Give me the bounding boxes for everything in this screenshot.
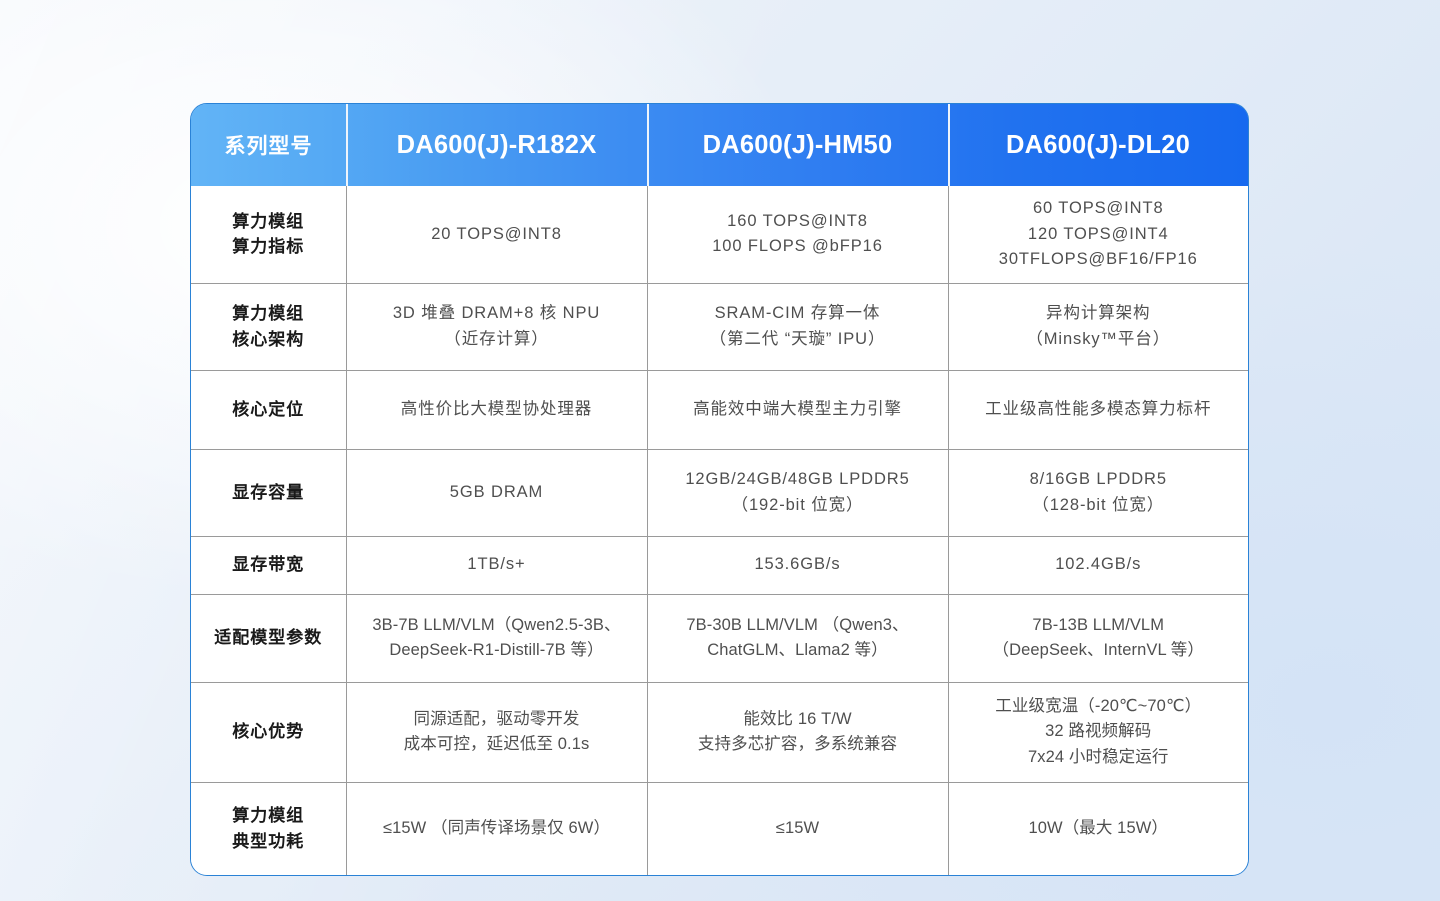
spec-value-line: 120 TOPS@INT4 xyxy=(961,222,1237,248)
column-header-dl20-label: DA600(J)-DL20 xyxy=(954,131,1242,160)
row-label-line: 适配模型参数 xyxy=(203,625,334,651)
spec-value-line: （192-bit 位宽） xyxy=(660,493,936,519)
column-header-hm50: DA600(J)-HM50 xyxy=(647,104,948,186)
spec-value-cell: 能效比 16 T/W支持多芯扩容，多系统兼容 xyxy=(647,682,948,782)
row-label-line: 算力模组 xyxy=(203,301,334,327)
spec-value-line: 能效比 16 T/W xyxy=(660,707,936,733)
row-label-line: 核心架构 xyxy=(203,327,334,353)
spec-value-cell: 1TB/s+ xyxy=(346,536,647,594)
spec-value-line: 102.4GB/s xyxy=(961,552,1237,578)
spec-value-line: 8/16GB LPDDR5 xyxy=(961,467,1237,493)
spec-value-cell: 高能效中端大模型主力引擎 xyxy=(647,370,948,449)
spec-value-cell: 同源适配，驱动零开发成本可控，延迟低至 0.1s xyxy=(346,682,647,782)
spec-value-cell: 3D 堆叠 DRAM+8 核 NPU（近存计算） xyxy=(346,283,647,370)
spec-value-line: （128-bit 位宽） xyxy=(961,493,1237,519)
table-row: 算力模组算力指标20 TOPS@INT8160 TOPS@INT8100 FLO… xyxy=(191,186,1248,283)
spec-value-line: 20 TOPS@INT8 xyxy=(359,222,635,248)
spec-value-cell: 异构计算架构（Minsky™平台） xyxy=(948,283,1248,370)
column-header-hm50-label: DA600(J)-HM50 xyxy=(653,131,942,160)
column-header-series: 系列型号 xyxy=(191,104,346,186)
spec-value-line: 7B-30B LLM/VLM （Qwen3、 xyxy=(660,613,936,639)
spec-value-cell: 10W（最大 15W） xyxy=(948,782,1248,875)
column-header-series-label: 系列型号 xyxy=(197,130,340,160)
table-row: 核心优势同源适配，驱动零开发成本可控，延迟低至 0.1s能效比 16 T/W支持… xyxy=(191,682,1248,782)
spec-value-line: ≤15W xyxy=(660,816,936,842)
row-label-line: 算力指标 xyxy=(203,234,334,260)
spec-value-line: （第二代 “天璇” IPU） xyxy=(660,327,936,353)
spec-value-line: 7x24 小时稳定运行 xyxy=(961,745,1237,771)
table-header: 系列型号 DA600(J)-R182X DA600(J)-HM50 DA600(… xyxy=(191,104,1248,186)
column-header-r182x: DA600(J)-R182X xyxy=(346,104,647,186)
table-row: 显存带宽1TB/s+153.6GB/s102.4GB/s xyxy=(191,536,1248,594)
table-body: 算力模组算力指标20 TOPS@INT8160 TOPS@INT8100 FLO… xyxy=(191,186,1248,875)
spec-value-line: 7B-13B LLM/VLM xyxy=(961,613,1237,639)
spec-value-line: 成本可控，延迟低至 0.1s xyxy=(359,732,635,758)
table-row: 算力模组核心架构3D 堆叠 DRAM+8 核 NPU（近存计算）SRAM-CIM… xyxy=(191,283,1248,370)
spec-value-line: 同源适配，驱动零开发 xyxy=(359,707,635,733)
header-row: 系列型号 DA600(J)-R182X DA600(J)-HM50 DA600(… xyxy=(191,104,1248,186)
spec-value-cell: 8/16GB LPDDR5（128-bit 位宽） xyxy=(948,449,1248,536)
row-label-cell: 算力模组算力指标 xyxy=(191,186,346,283)
spec-value-line: （近存计算） xyxy=(359,327,635,353)
spec-value-cell: 60 TOPS@INT8120 TOPS@INT430TFLOPS@BF16/F… xyxy=(948,186,1248,283)
spec-value-line: （Minsky™平台） xyxy=(961,327,1237,353)
spec-value-cell: 5GB DRAM xyxy=(346,449,647,536)
spec-value-line: 异构计算架构 xyxy=(961,301,1237,327)
spec-value-cell: 7B-13B LLM/VLM（DeepSeek、InternVL 等） xyxy=(948,594,1248,682)
spec-value-line: 160 TOPS@INT8 xyxy=(660,209,936,235)
row-label-line: 显存容量 xyxy=(203,480,334,506)
spec-value-cell: 20 TOPS@INT8 xyxy=(346,186,647,283)
spec-value-cell: 160 TOPS@INT8100 FLOPS @bFP16 xyxy=(647,186,948,283)
table-row: 适配模型参数3B-7B LLM/VLM（Qwen2.5-3B、DeepSeek-… xyxy=(191,594,1248,682)
row-label-cell: 算力模组核心架构 xyxy=(191,283,346,370)
row-label-cell: 显存带宽 xyxy=(191,536,346,594)
spec-value-cell: 7B-30B LLM/VLM （Qwen3、ChatGLM、Llama2 等） xyxy=(647,594,948,682)
spec-value-line: 32 路视频解码 xyxy=(961,719,1237,745)
spec-value-line: 30TFLOPS@BF16/FP16 xyxy=(961,247,1237,273)
row-label-line: 核心定位 xyxy=(203,397,334,423)
spec-value-cell: 工业级宽温（-20℃~70℃）32 路视频解码7x24 小时稳定运行 xyxy=(948,682,1248,782)
table-row: 算力模组典型功耗≤15W （同声传译场景仅 6W）≤15W10W（最大 15W） xyxy=(191,782,1248,875)
page-root: 系列型号 DA600(J)-R182X DA600(J)-HM50 DA600(… xyxy=(0,0,1440,901)
spec-value-line: ChatGLM、Llama2 等） xyxy=(660,638,936,664)
spec-value-line: 3B-7B LLM/VLM（Qwen2.5-3B、 xyxy=(359,613,635,639)
spec-value-line: 5GB DRAM xyxy=(359,480,635,506)
spec-value-cell: 工业级高性能多模态算力标杆 xyxy=(948,370,1248,449)
spec-value-cell: SRAM-CIM 存算一体（第二代 “天璇” IPU） xyxy=(647,283,948,370)
row-label-cell: 核心定位 xyxy=(191,370,346,449)
spec-value-line: 100 FLOPS @bFP16 xyxy=(660,234,936,260)
spec-value-line: 3D 堆叠 DRAM+8 核 NPU xyxy=(359,301,635,327)
spec-table: 系列型号 DA600(J)-R182X DA600(J)-HM50 DA600(… xyxy=(191,104,1248,875)
spec-value-line: 10W（最大 15W） xyxy=(961,816,1237,842)
spec-value-line: 工业级宽温（-20℃~70℃） xyxy=(961,694,1237,720)
spec-value-line: 12GB/24GB/48GB LPDDR5 xyxy=(660,467,936,493)
spec-value-cell: 153.6GB/s xyxy=(647,536,948,594)
spec-value-line: 支持多芯扩容，多系统兼容 xyxy=(660,732,936,758)
spec-value-line: 高性价比大模型协处理器 xyxy=(359,397,635,423)
spec-value-cell: 高性价比大模型协处理器 xyxy=(346,370,647,449)
row-label-line: 算力模组 xyxy=(203,209,334,235)
spec-value-cell: 102.4GB/s xyxy=(948,536,1248,594)
spec-value-line: 工业级高性能多模态算力标杆 xyxy=(961,397,1237,423)
spec-value-line: SRAM-CIM 存算一体 xyxy=(660,301,936,327)
spec-value-cell: ≤15W （同声传译场景仅 6W） xyxy=(346,782,647,875)
spec-value-line: 153.6GB/s xyxy=(660,552,936,578)
column-header-r182x-label: DA600(J)-R182X xyxy=(352,131,641,160)
row-label-cell: 算力模组典型功耗 xyxy=(191,782,346,875)
spec-value-line: DeepSeek-R1-Distill-7B 等） xyxy=(359,638,635,664)
spec-value-cell: ≤15W xyxy=(647,782,948,875)
spec-value-cell: 12GB/24GB/48GB LPDDR5（192-bit 位宽） xyxy=(647,449,948,536)
table-row: 核心定位高性价比大模型协处理器高能效中端大模型主力引擎工业级高性能多模态算力标杆 xyxy=(191,370,1248,449)
table-row: 显存容量5GB DRAM12GB/24GB/48GB LPDDR5（192-bi… xyxy=(191,449,1248,536)
spec-value-line: 60 TOPS@INT8 xyxy=(961,196,1237,222)
row-label-line: 算力模组 xyxy=(203,803,334,829)
spec-value-line: （DeepSeek、InternVL 等） xyxy=(961,638,1237,664)
row-label-line: 核心优势 xyxy=(203,719,334,745)
row-label-cell: 适配模型参数 xyxy=(191,594,346,682)
spec-value-line: 1TB/s+ xyxy=(359,552,635,578)
row-label-cell: 显存容量 xyxy=(191,449,346,536)
spec-value-cell: 3B-7B LLM/VLM（Qwen2.5-3B、DeepSeek-R1-Dis… xyxy=(346,594,647,682)
row-label-cell: 核心优势 xyxy=(191,682,346,782)
column-header-dl20: DA600(J)-DL20 xyxy=(948,104,1248,186)
spec-value-line: 高能效中端大模型主力引擎 xyxy=(660,397,936,423)
spec-comparison-card: 系列型号 DA600(J)-R182X DA600(J)-HM50 DA600(… xyxy=(190,103,1249,876)
spec-value-line: ≤15W （同声传译场景仅 6W） xyxy=(359,816,635,842)
row-label-line: 典型功耗 xyxy=(203,829,334,855)
row-label-line: 显存带宽 xyxy=(203,552,334,578)
